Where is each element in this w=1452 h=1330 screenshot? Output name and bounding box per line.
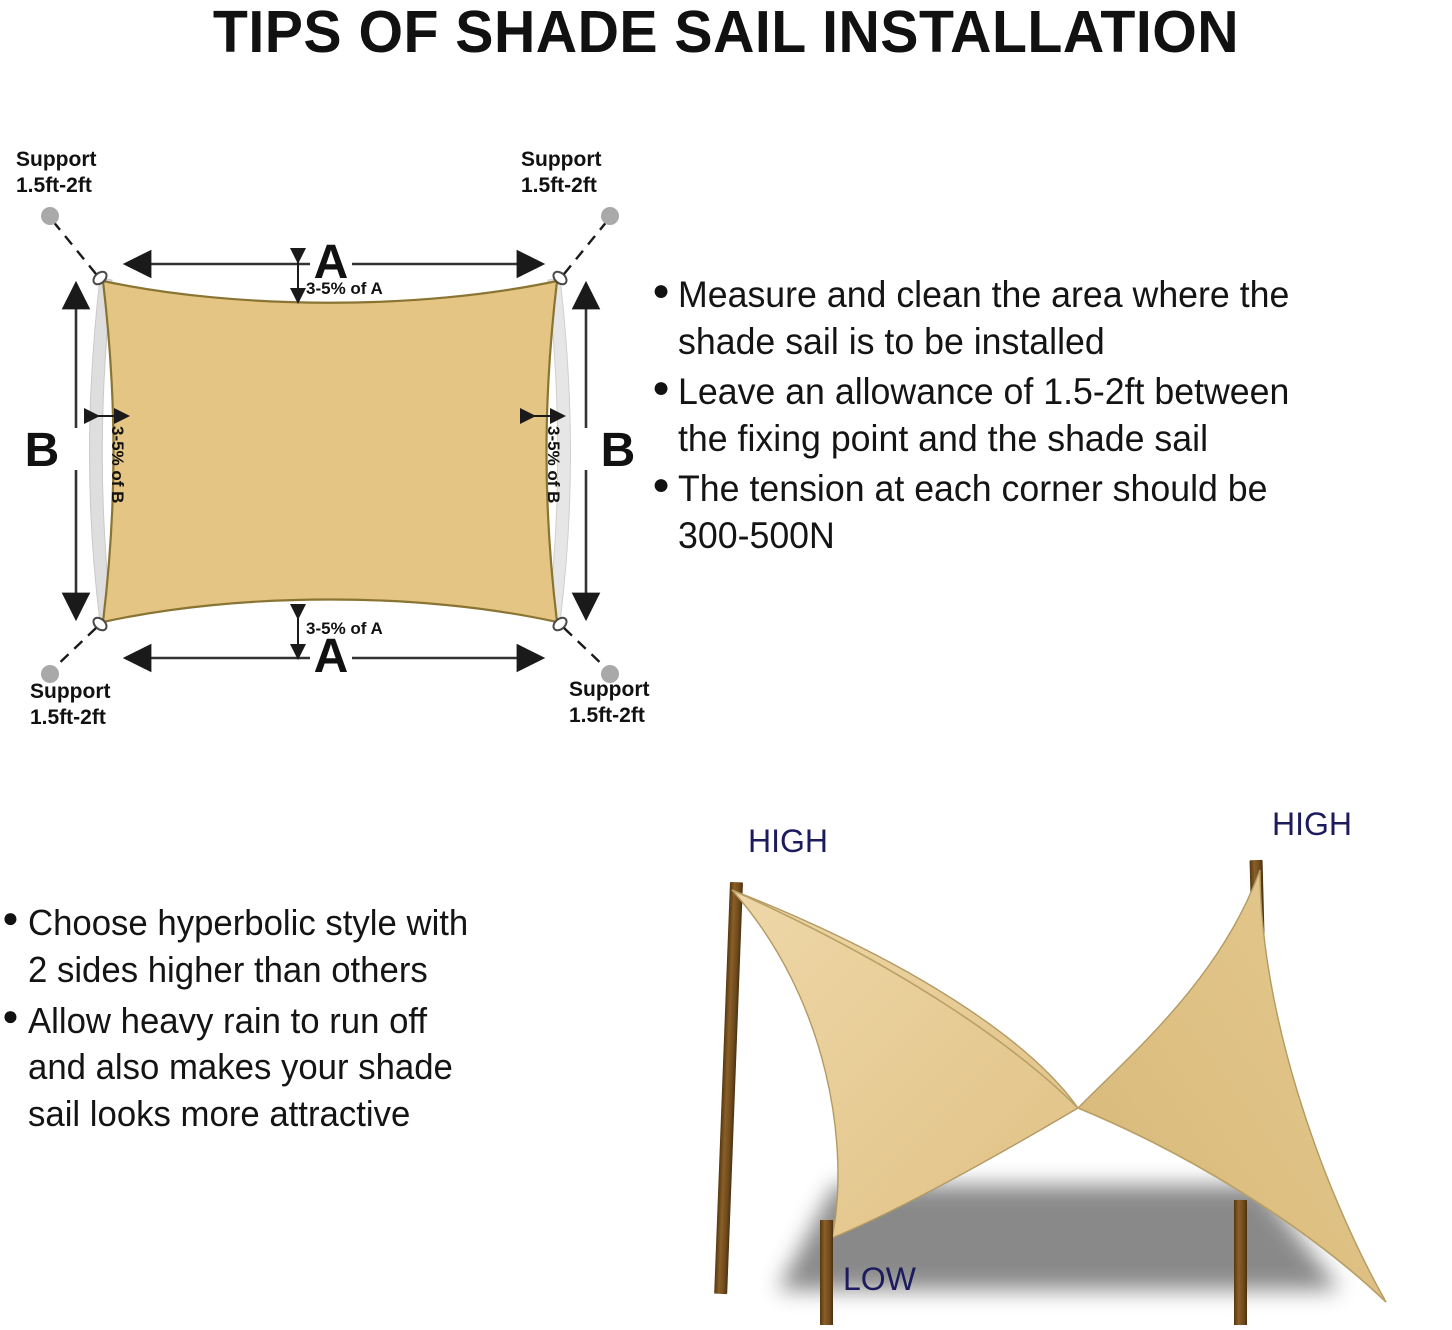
- bullet-icon: ●: [2, 900, 28, 936]
- shade-sail-shape: [103, 281, 557, 622]
- bullet-icon: ●: [2, 998, 28, 1034]
- hyperbolic-sail-svg: HIGH HIGH LOW LOW: [660, 790, 1452, 1325]
- tip-text: The tension at each corner should be 300…: [678, 466, 1425, 559]
- bullet-icon: ●: [652, 272, 678, 310]
- tip-item: ● The tension at each corner should be 3…: [652, 466, 1452, 559]
- label-low-left: LOW: [843, 1261, 917, 1297]
- bullet-icon: ●: [652, 369, 678, 407]
- tip-text: Measure and clean the area where the sha…: [678, 272, 1425, 365]
- support-label-bottom-right-line1: Support: [569, 678, 649, 701]
- post-low-left-front: [820, 1220, 833, 1325]
- curve-label-a-bottom: 3-5% of A: [306, 619, 383, 638]
- post-high-left: [714, 882, 743, 1294]
- support-label-top-right-line1: Support: [521, 150, 601, 171]
- support-label-bottom-left-line2: 1.5ft-2ft: [30, 706, 106, 729]
- top-diagram-container: A A B B 3-5% of A 3-5% of A 3-5% of B 3-…: [0, 150, 660, 750]
- label-high-left: HIGH: [748, 823, 828, 859]
- curve-label-a-top: 3-5% of A: [306, 279, 383, 298]
- rectangular-sail-diagram-svg: A A B B 3-5% of A 3-5% of A 3-5% of B 3-…: [0, 150, 660, 750]
- support-label-bottom-left-line1: Support: [30, 680, 110, 703]
- curve-label-b-right: 3-5% of B: [544, 426, 563, 503]
- support-label-top-left-line2: 1.5ft-2ft: [16, 174, 92, 197]
- bullet-icon: ●: [652, 466, 678, 504]
- page-title: TIPS OF SHADE SAIL INSTALLATION: [22, 0, 1430, 66]
- post-low-right-front: [1234, 1200, 1247, 1325]
- support-label-top-left-line1: Support: [16, 150, 96, 171]
- tip-item: ● Leave an allowance of 1.5-2ft between …: [652, 369, 1452, 462]
- tip-item: ● Choose hyperbolic style with 2 sides h…: [2, 900, 622, 994]
- tip-text: Choose hyperbolic style with 2 sides hig…: [28, 900, 601, 994]
- label-high-right: HIGH: [1272, 806, 1352, 842]
- hyperbolic-shade-sail-illustration: HIGH HIGH LOW LOW: [660, 790, 1452, 1325]
- curve-label-b-left: 3-5% of B: [108, 426, 127, 503]
- tip-item: ● Allow heavy rain to run off and also m…: [2, 998, 622, 1138]
- support-label-top-right-line2: 1.5ft-2ft: [521, 174, 597, 197]
- installation-tips-list-bottom: ● Choose hyperbolic style with 2 sides h…: [2, 900, 622, 1142]
- tip-item: ● Measure and clean the area where the s…: [652, 272, 1452, 365]
- support-label-bottom-right-line2: 1.5ft-2ft: [569, 704, 645, 727]
- dimension-label-b-right: B: [601, 424, 636, 477]
- installation-tips-list-top: ● Measure and clean the area where the s…: [652, 272, 1452, 564]
- tip-text: Leave an allowance of 1.5-2ft between th…: [678, 369, 1425, 462]
- tip-text: Allow heavy rain to run off and also mak…: [28, 998, 601, 1138]
- dimension-label-b-left: B: [25, 424, 60, 477]
